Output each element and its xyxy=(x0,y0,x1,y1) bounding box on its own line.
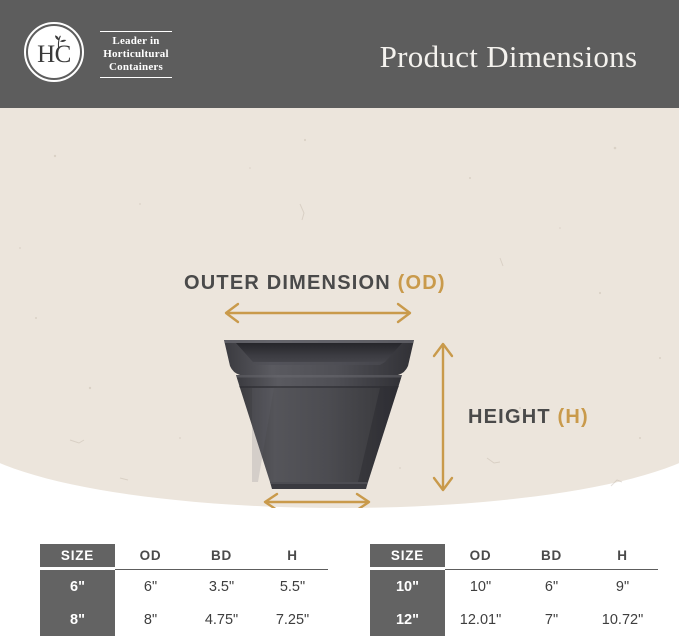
table-row: 10" 10" 6" 9" xyxy=(370,570,658,603)
spec-table-large-sizes: SIZE OD BD H 10" 10" 6" 9" 12" 12.01" 7"… xyxy=(370,544,658,636)
leaf-sprout-icon xyxy=(51,34,69,48)
table-row: 6" 6" 3.5" 5.5" xyxy=(40,570,328,603)
cell-od: 6" xyxy=(115,570,186,603)
table-row: 8" 8" 4.75" 7.25" xyxy=(40,603,328,636)
column-header-bd: BD xyxy=(516,544,587,567)
square-tapered-planter xyxy=(222,332,416,492)
column-header-h: H xyxy=(257,544,328,567)
page-title: Product Dimensions xyxy=(338,0,679,108)
tagline-line-3: Containers xyxy=(103,61,169,74)
spec-table-small-sizes: SIZE OD BD H 6" 6" 3.5" 5.5" 8" 8" 4.75"… xyxy=(40,544,328,636)
table-row: 12" 12.01" 7" 10.72" xyxy=(370,603,658,636)
horizontal-double-arrow-od xyxy=(218,300,418,326)
tagline-text: Leader in Horticultural Containers xyxy=(103,32,169,77)
cell-h: 5.5" xyxy=(257,570,328,603)
brand-tagline: Leader in Horticultural Containers xyxy=(100,31,172,78)
diagram-panel: OUTER DIMENSION (OD) BASE DIMENSION (BD)… xyxy=(0,108,679,508)
column-header-size: SIZE xyxy=(370,544,445,567)
vertical-double-arrow-h xyxy=(430,336,456,498)
horizontal-double-arrow-bd xyxy=(258,490,376,508)
cell-h: 10.72" xyxy=(587,603,658,636)
cell-od: 10" xyxy=(445,570,516,603)
header-bar: HC Leader in Horticultural Containers Pr… xyxy=(0,0,679,108)
label-outer-dimension-abbr: (OD) xyxy=(398,272,446,294)
label-height-abbr: (H) xyxy=(558,406,589,428)
tagline-line-2: Horticultural xyxy=(103,48,169,61)
table-header-row: SIZE OD BD H xyxy=(40,544,328,567)
label-outer-dimension-text: OUTER DIMENSION xyxy=(184,272,391,294)
brand-lockup: HC Leader in Horticultural Containers xyxy=(24,22,172,86)
column-header-bd: BD xyxy=(186,544,257,567)
label-height-text: HEIGHT xyxy=(468,406,551,428)
cell-bd: 7" xyxy=(516,603,587,636)
tagline-line-1: Leader in xyxy=(103,35,169,48)
column-header-size: SIZE xyxy=(40,544,115,567)
cell-bd: 6" xyxy=(516,570,587,603)
cell-h: 9" xyxy=(587,570,658,603)
cell-bd: 3.5" xyxy=(186,570,257,603)
cell-size: 6" xyxy=(40,570,115,603)
table-header-row: SIZE OD BD H xyxy=(370,544,658,567)
cell-od: 12.01" xyxy=(445,603,516,636)
tagline-rule-bottom xyxy=(100,77,172,78)
column-header-od: OD xyxy=(115,544,186,567)
cell-size: 10" xyxy=(370,570,445,603)
logo-monogram: HC xyxy=(24,22,84,82)
column-header-od: OD xyxy=(445,544,516,567)
cell-h: 7.25" xyxy=(257,603,328,636)
cell-od: 8" xyxy=(115,603,186,636)
label-height: HEIGHT (H) xyxy=(468,406,589,429)
column-header-h: H xyxy=(587,544,658,567)
cell-bd: 4.75" xyxy=(186,603,257,636)
cell-size: 8" xyxy=(40,603,115,636)
label-outer-dimension: OUTER DIMENSION (OD) xyxy=(184,272,446,295)
hc-circle-logo: HC xyxy=(24,22,88,86)
cell-size: 12" xyxy=(370,603,445,636)
